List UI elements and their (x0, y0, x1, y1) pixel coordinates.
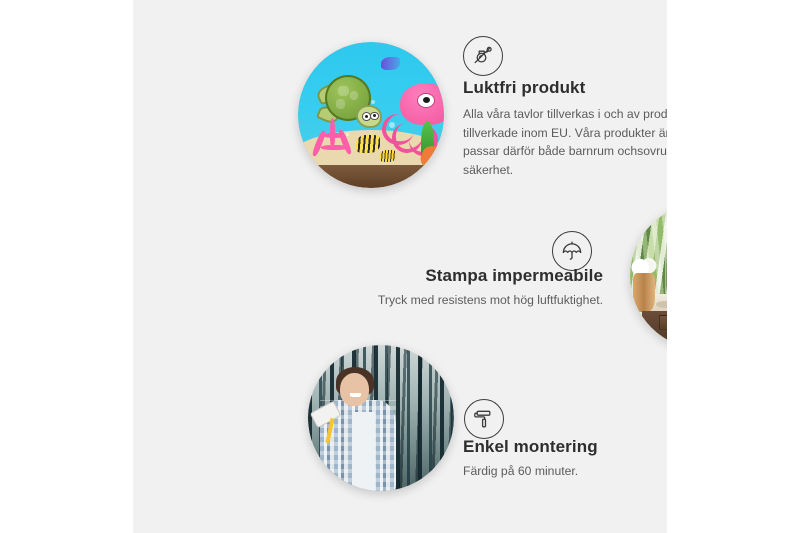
octopus-head (400, 83, 444, 125)
umbrella-icon (552, 231, 592, 271)
blue-fish-icon (381, 57, 400, 70)
feature-block-waterproof: Stampa impermeabile Tryck med resistens … (338, 266, 603, 310)
feature-body: Tryck med resistens mot hög luftfuktighe… (338, 291, 603, 310)
woman-face (340, 373, 369, 407)
feature-heading: Luktfri produkt (463, 78, 667, 98)
feature-heading: Stampa impermeabile (338, 266, 603, 286)
turtle-scute (338, 86, 348, 96)
feature-body: Färdig på 60 minuter. (463, 462, 667, 481)
bathroom-cabinet (642, 311, 667, 349)
product-image-woman-paint-roller-forest (308, 345, 454, 491)
product-feature-banner: Luktfri produkt Alla våra tavlor tillver… (0, 0, 800, 533)
yellow-fish-icon (380, 150, 396, 162)
bathroom-scene (630, 203, 667, 349)
coral-icon (310, 118, 360, 168)
product-image-ocean-kids-mural (298, 42, 444, 188)
turtle-eye (362, 112, 371, 121)
feature-block-odour-free: Luktfri produkt Alla våra tavlor tillver… (463, 78, 667, 179)
soap-dish (656, 301, 667, 308)
woman-forest-scene (308, 345, 454, 491)
bathroom-mirror (665, 221, 667, 293)
content-panel: Luktfri produkt Alla våra tavlor tillver… (133, 0, 667, 533)
yellow-fish-icon (356, 135, 379, 153)
octopus-icon (389, 83, 444, 150)
feature-block-easy-mounting: Enkel montering Färdig på 60 minuter. (463, 437, 667, 481)
octopus-eye (417, 93, 435, 108)
gold-vase (633, 273, 655, 312)
paint-roller-icon (464, 399, 504, 439)
cabinet-drawer (659, 315, 667, 330)
ocean-seabed (298, 165, 444, 188)
ocean-scene (298, 42, 444, 188)
woman-smile (350, 393, 360, 397)
turtle-eye (370, 112, 379, 121)
turtle-scute (336, 99, 345, 108)
feature-body: Alla våra tavlor tillverkas i och av pro… (463, 105, 667, 179)
no-fragrance-icon (463, 36, 503, 76)
feature-heading: Enkel montering (463, 437, 667, 457)
turtle-scute (350, 91, 358, 100)
turtle-head (356, 105, 382, 128)
woman-inner-shirt (352, 412, 375, 491)
product-image-bathroom-botanical-mural (630, 203, 667, 349)
